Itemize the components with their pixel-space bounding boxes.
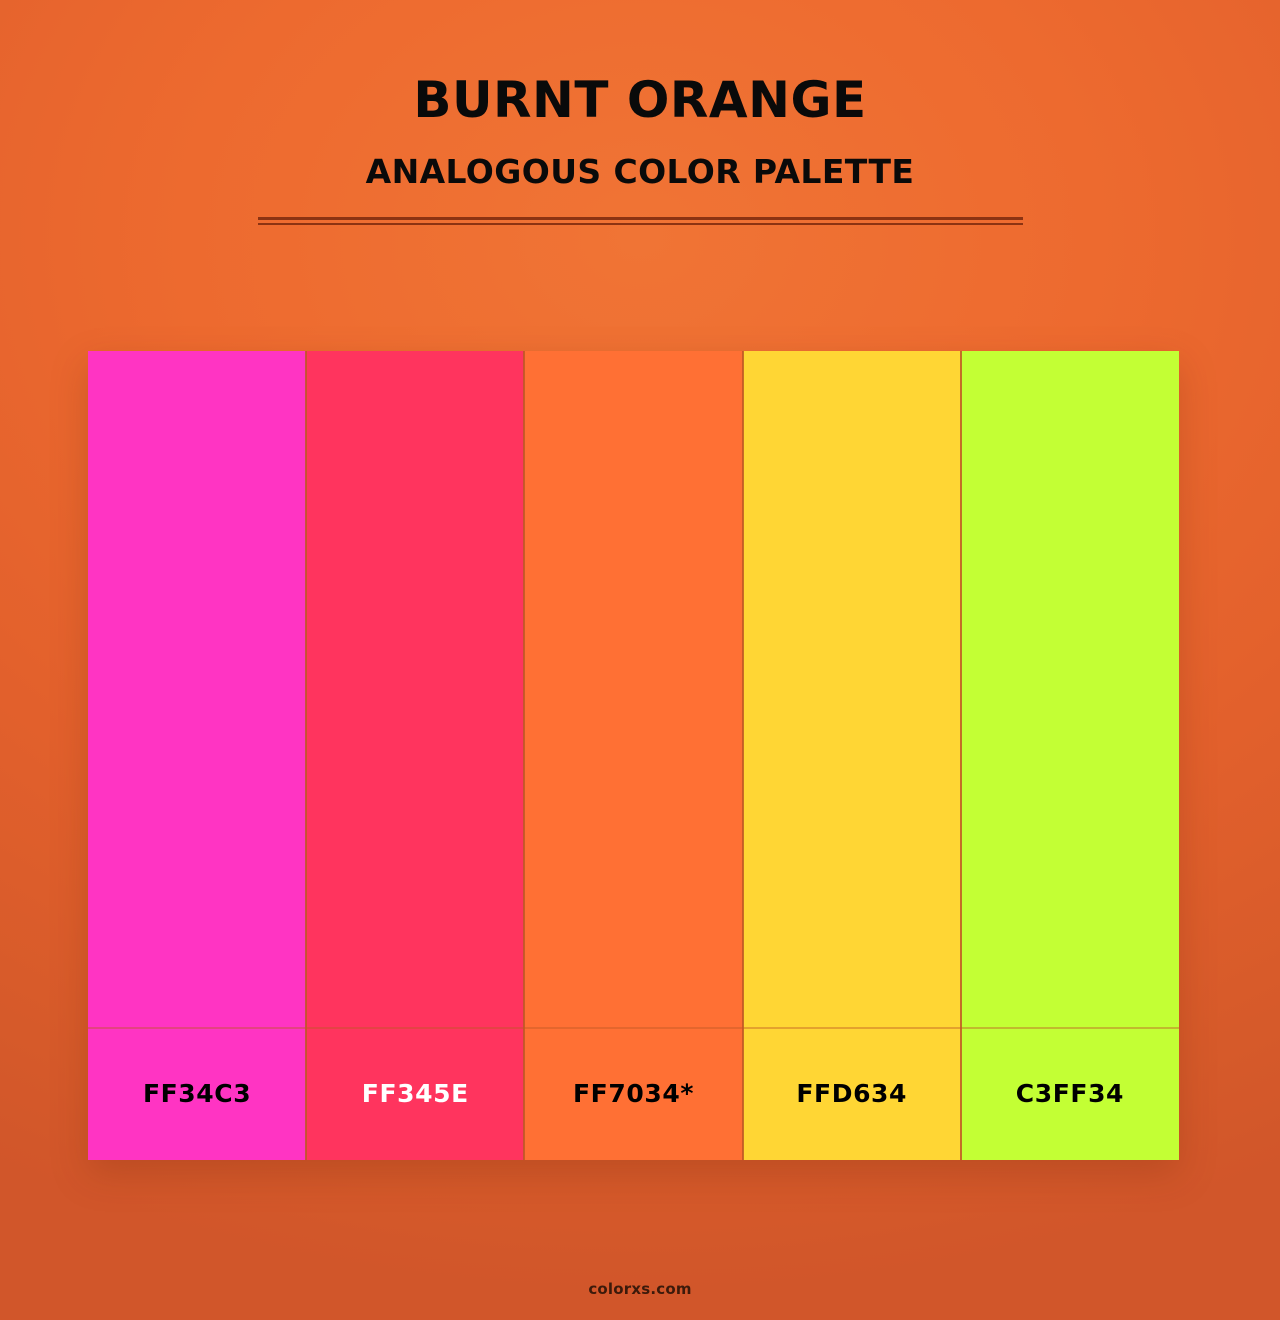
color-swatch[interactable]: C3FF34 bbox=[961, 351, 1179, 1160]
color-swatch-label-band: FF34C3 bbox=[88, 1027, 306, 1160]
color-swatch[interactable]: FF34C3 bbox=[88, 351, 306, 1160]
color-palette: FF34C3FF345EFF7034*FFD634C3FF34 bbox=[88, 351, 1179, 1160]
divider-line-top bbox=[258, 217, 1023, 220]
color-hex-label: FF7034* bbox=[573, 1079, 694, 1108]
header: BURNT ORANGE ANALOGOUS COLOR PALETTE bbox=[0, 0, 1280, 226]
footer-site-name: colorxs.com bbox=[0, 1280, 1280, 1298]
color-hex-label: FFD634 bbox=[796, 1079, 907, 1108]
color-hex-label: C3FF34 bbox=[1016, 1079, 1124, 1108]
color-swatch-fill bbox=[88, 351, 306, 1027]
page-subtitle: ANALOGOUS COLOR PALETTE bbox=[0, 154, 1280, 191]
color-swatch-fill bbox=[743, 351, 961, 1027]
color-swatch-label-band: FFD634 bbox=[743, 1027, 961, 1160]
color-swatch-fill bbox=[524, 351, 742, 1027]
color-swatch-label-band: C3FF34 bbox=[961, 1027, 1179, 1160]
color-hex-label: FF34C3 bbox=[143, 1079, 251, 1108]
color-hex-label: FF345E bbox=[362, 1079, 469, 1108]
header-divider bbox=[258, 217, 1023, 226]
color-swatch-fill bbox=[306, 351, 524, 1027]
color-swatch-fill bbox=[961, 351, 1179, 1027]
footer: colorxs.com bbox=[0, 1280, 1280, 1298]
color-swatch[interactable]: FF7034* bbox=[524, 351, 742, 1160]
color-swatch[interactable]: FFD634 bbox=[743, 351, 961, 1160]
color-swatch-label-band: FF345E bbox=[306, 1027, 524, 1160]
color-swatch[interactable]: FF345E bbox=[306, 351, 524, 1160]
color-swatch-label-band: FF7034* bbox=[524, 1027, 742, 1160]
page-background: BURNT ORANGE ANALOGOUS COLOR PALETTE FF3… bbox=[0, 0, 1280, 1320]
page-title: BURNT ORANGE bbox=[0, 72, 1280, 128]
divider-line-bottom bbox=[258, 223, 1023, 225]
